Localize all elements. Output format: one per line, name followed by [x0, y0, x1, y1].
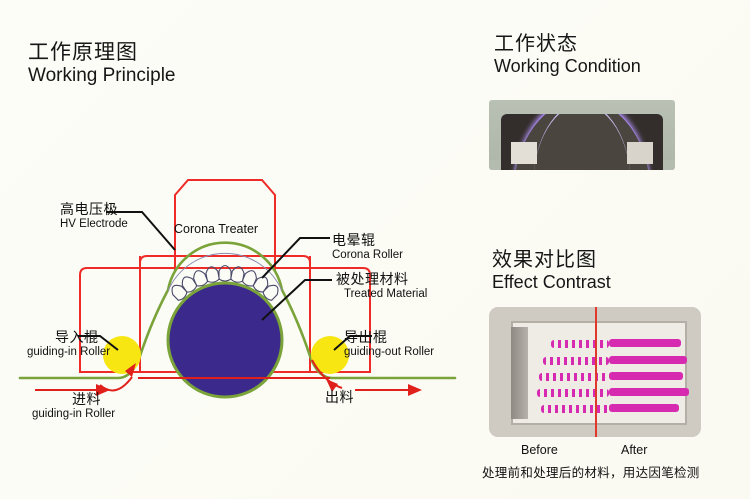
label-guiding-in-roller-cn: 导入棍: [55, 330, 110, 346]
ink-stroke-before: [541, 405, 609, 413]
label-corona-roller-cn: 电晕辊: [332, 233, 403, 249]
effect-contrast-title-cn: 效果对比图: [492, 250, 611, 271]
working-condition-heading: 工作状态 Working Condition: [494, 34, 641, 76]
label-guiding-in-roller: 导入棍 guiding-in Roller: [27, 330, 110, 359]
ink-stroke-after: [609, 372, 683, 380]
effect-contrast-title-en: Effect Contrast: [492, 273, 611, 292]
label-corona-treater-en: Corona Treater: [174, 222, 258, 236]
label-feed-out: 出料: [325, 390, 354, 406]
label-feed-in: 进料 guiding-in Roller: [32, 392, 115, 421]
ink-stroke-before: [551, 340, 609, 348]
label-treated-material-en: Treated Material: [344, 288, 427, 301]
label-feed-in-en: guiding-in Roller: [32, 408, 115, 421]
label-hv-electrode-cn: 高电压极: [60, 202, 128, 218]
feed-out-arrow-head: [408, 384, 422, 396]
before-label: Before: [521, 443, 558, 457]
ink-stroke-before: [543, 357, 609, 365]
label-hv-electrode-en: HV Electrode: [60, 218, 128, 231]
working-condition-title-cn: 工作状态: [494, 34, 641, 55]
label-guiding-out-roller-en: guiding-out Roller: [344, 346, 434, 359]
callout-line-corona-roller: [262, 238, 330, 278]
ink-stroke-after: [609, 356, 687, 364]
label-corona-treater: Corona Treater: [174, 222, 258, 236]
ink-stroke-after: [609, 339, 681, 347]
working-principle-title-en: Working Principle: [28, 66, 175, 86]
label-guiding-out-roller: 导出棍 guiding-out Roller: [344, 330, 434, 359]
corona-roller: [168, 283, 282, 397]
effect-contrast-heading: 效果对比图 Effect Contrast: [492, 250, 611, 292]
ink-stroke-before: [539, 373, 609, 381]
tray-clip: [511, 327, 528, 419]
label-feed-out-cn: 出料: [325, 390, 354, 406]
ink-stroke-after: [609, 388, 689, 396]
working-principle-title-cn: 工作原理图: [28, 42, 175, 64]
working-principle-heading: 工作原理图 Working Principle: [28, 42, 175, 86]
label-guiding-in-roller-en: guiding-in Roller: [27, 346, 110, 359]
label-treated-material: 被处理材料 Treated Material: [336, 272, 427, 301]
label-hv-electrode: 高电压极 HV Electrode: [60, 202, 128, 231]
working-condition-photo: [489, 100, 675, 170]
effect-contrast-caption: 处理前和处理后的材料，用达因笔检测: [482, 462, 700, 481]
after-label: After: [621, 443, 647, 457]
treater-chamber: [501, 114, 663, 170]
before-after-divider-line: [595, 307, 597, 437]
working-condition-title-en: Working Condition: [494, 57, 641, 76]
chamber-right-panel: [627, 142, 653, 164]
ink-stroke-after: [609, 404, 679, 412]
label-feed-in-cn: 进料: [72, 392, 115, 408]
label-corona-roller-en: Corona Roller: [332, 249, 403, 262]
chamber-left-panel: [511, 142, 537, 164]
label-treated-material-cn: 被处理材料: [336, 272, 427, 288]
ink-stroke-before: [537, 389, 609, 397]
label-guiding-out-roller-cn: 导出棍: [344, 330, 434, 346]
effect-contrast-photo: [489, 307, 701, 437]
label-corona-roller: 电晕辊 Corona Roller: [332, 233, 403, 262]
